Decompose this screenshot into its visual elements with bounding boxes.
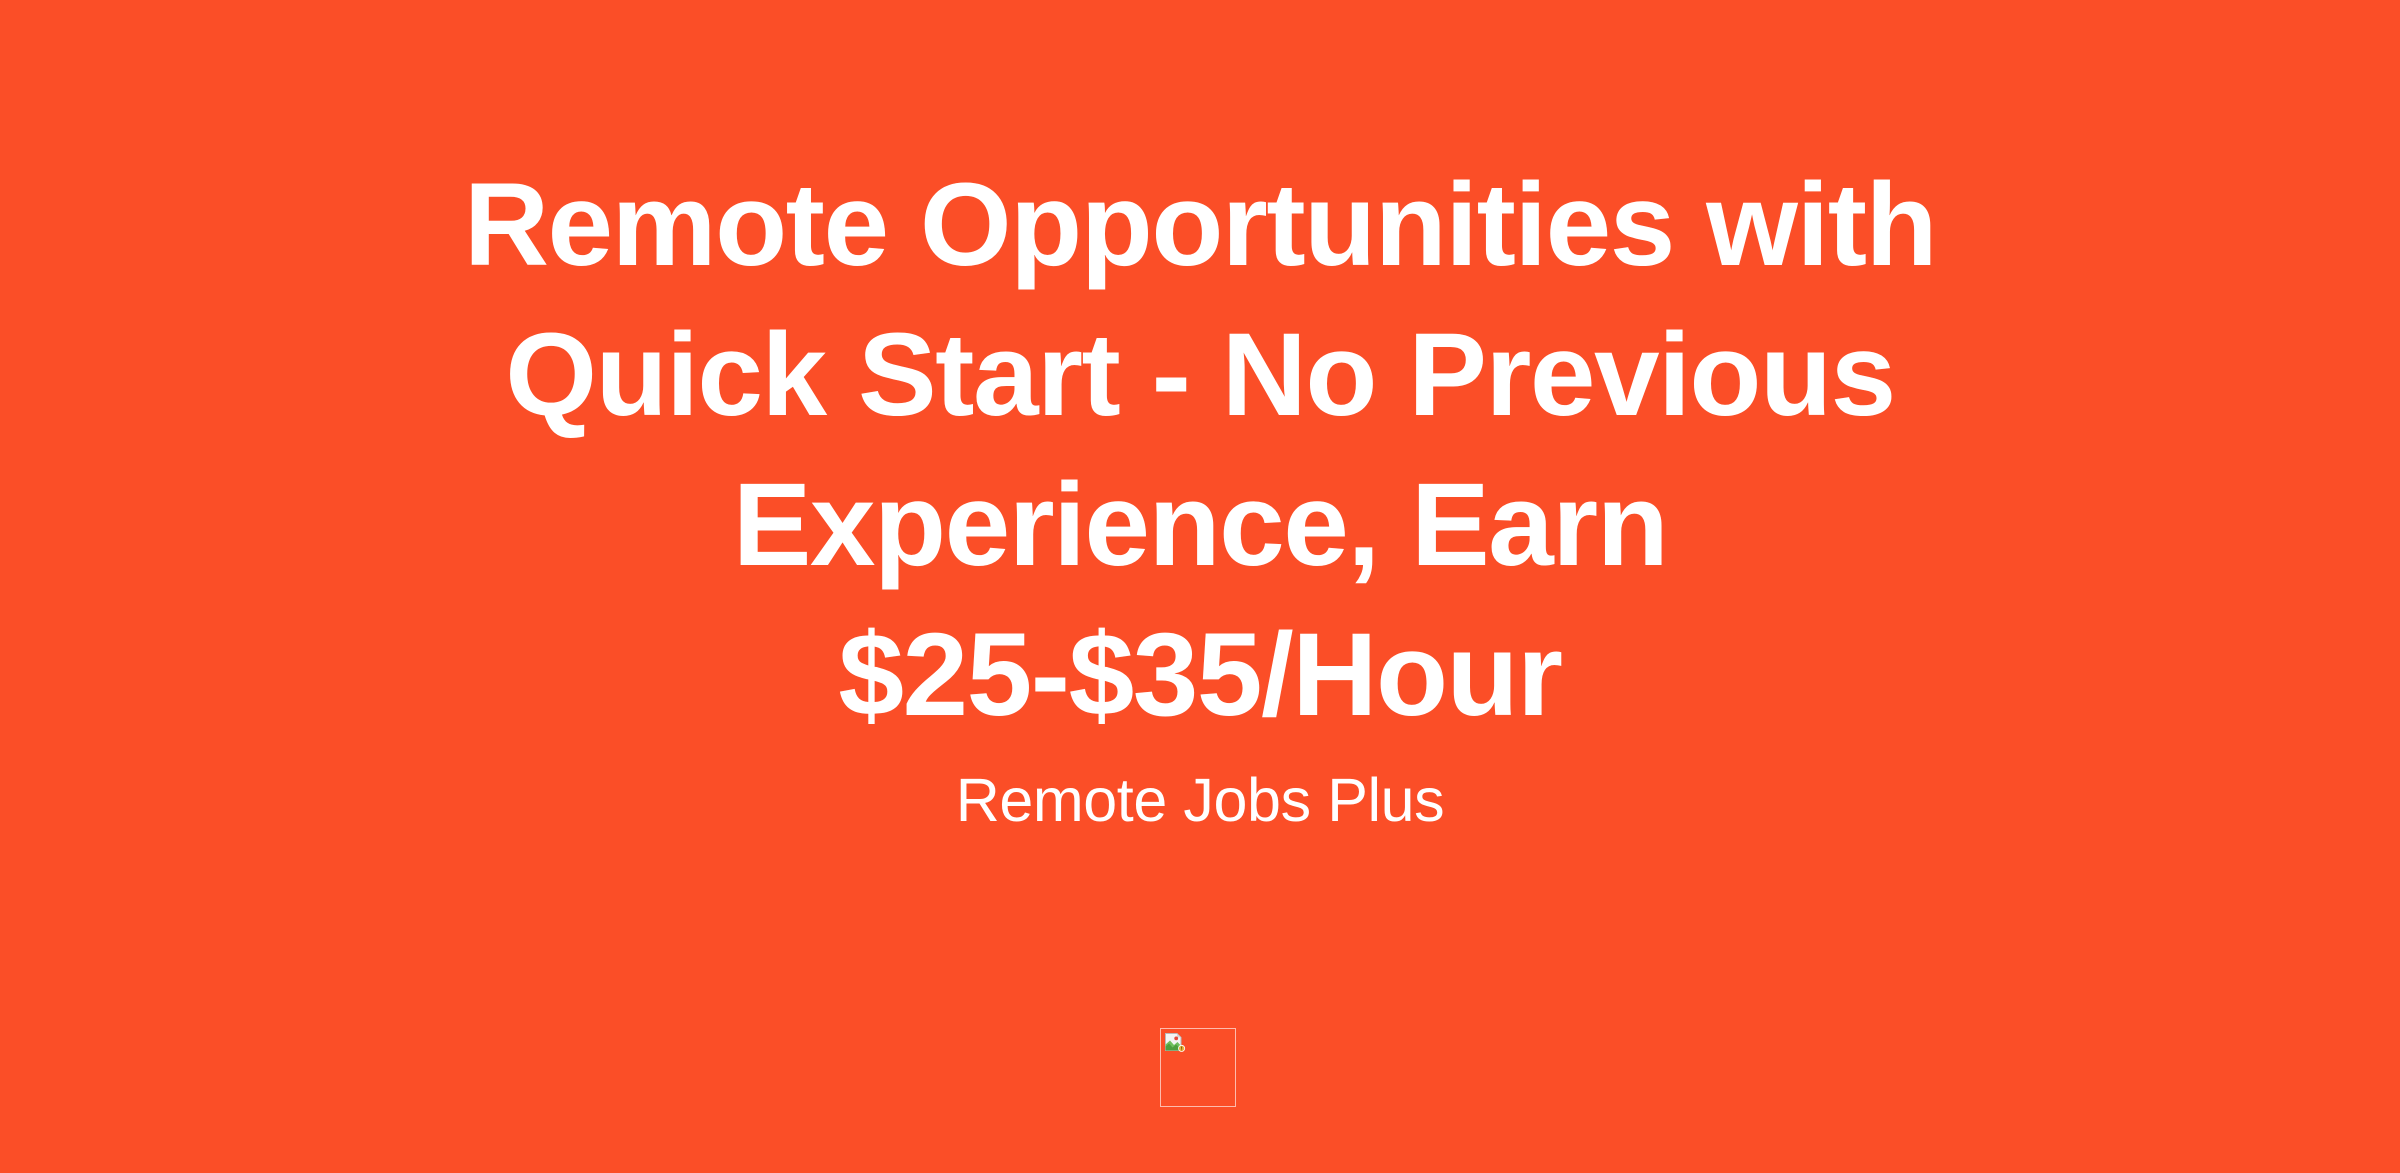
- headline: Remote Opportunities with Quick Start - …: [450, 150, 1950, 750]
- broken-image-icon: [1164, 1032, 1186, 1052]
- media-slot: [1160, 1028, 1236, 1107]
- subtitle: Remote Jobs Plus: [300, 763, 2100, 837]
- ad-page: Remote Opportunities with Quick Start - …: [0, 0, 2400, 1173]
- broken-image-placeholder[interactable]: [1160, 1028, 1236, 1107]
- ad-content: Remote Opportunities with Quick Start - …: [0, 0, 2400, 837]
